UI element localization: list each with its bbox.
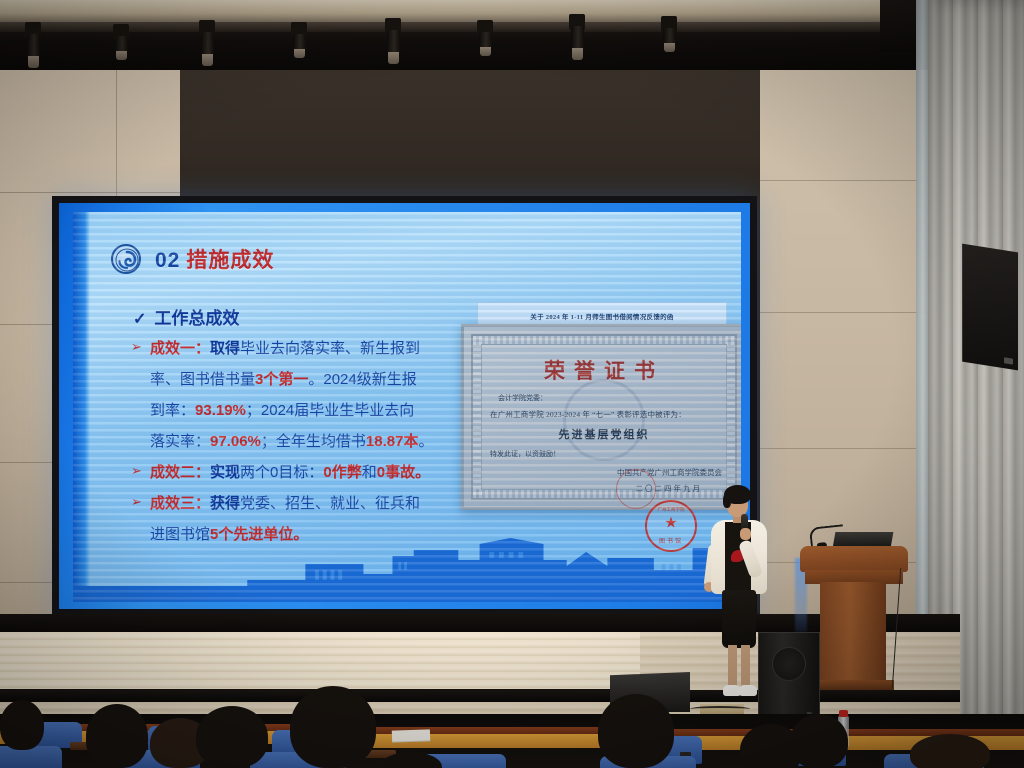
audience-seat [0,746,62,768]
slide-bullet-segment: 获得 [210,495,240,512]
certificate-stamp-overlay [616,469,656,509]
slide-bullet-segment: 93.19% [195,402,246,419]
slide-bullet-text: 成效二：实现两个0目标：0作弊和0事故。 [150,458,430,487]
slide-bullet-text: 落实率：97.06%；全年生均借书18.87本。 [150,427,433,456]
presenter-right-leg [741,645,750,689]
slide-bullet-segment: ；全年生均借书 [261,433,366,450]
slide-bullet: 到率：93.19%；2024届毕业生毕业去向 [131,396,503,425]
bullet-arrow-icon: ➢ [131,458,143,487]
slide-bullet-segment: 。2024级新生报 [308,371,416,388]
stage-spotlight-icon [474,20,496,66]
podium-body [820,582,886,684]
presenter-left-leg [728,645,737,689]
wall-mounted-speaker [962,244,1018,371]
audience-member-head [196,706,268,768]
audience-member-head [86,704,148,768]
stage-spotlight-icon [382,18,404,64]
slide-section-number: 02 [155,249,180,272]
slide-bullet-segment: 落实率： [150,433,210,450]
slide-bullet-segment: ；2024届毕业生毕业去向 [246,402,414,419]
podium-cable [892,568,901,688]
certificate-award-name: 先进基层党组织 [464,426,741,442]
stage-spotlight-icon [196,20,218,66]
slide-bullet-text: 成效一：取得毕业去向落实率、新生报到 [150,334,420,363]
slide-bullet-list: ➢成效一：取得毕业去向落实率、新生报到率、图书借书量3个第一。2024级新生报到… [131,334,503,551]
slide-bullet-segment: 。 [418,433,433,450]
stage-riser [0,632,640,692]
star-icon: ★ [664,516,677,531]
slide-bullet-label: 成效一： [150,340,210,357]
audience-member-head [598,694,674,768]
slide-bullet-label: 成效二： [150,464,210,481]
slide-bullet-segment: 0作弊 [323,464,361,481]
stage-spotlight-icon [288,22,310,68]
slide-bullet-segment: 党委、招生、就业、征兵和 [240,495,420,512]
slide-bullet: 落实率：97.06%；全年生均借书18.87本。 [131,427,503,456]
certificate-closing-line: 特发此证，以资鼓励！ [490,449,560,459]
spiral-brand-logo-icon [111,244,141,274]
slide-bullet-segment: 两个0目标： [240,464,323,481]
slide-title-row: 02措施成效 [111,244,274,274]
slide-bullet-label: 成效三： [150,495,210,512]
stage-spotlight-icon [22,22,44,68]
slide-bullet-segment: 97.06% [210,433,261,450]
audience-member-head [790,714,848,768]
slide-bullet-segment: 到率： [150,402,195,419]
memo-title: 关于 2024 年 1-11 月师生图书借阅情况反馈的函 [478,311,726,321]
stage-spotlight-icon [110,24,132,70]
certificate-body-line: 在广州工商学院 2023-2024 年 “七一” 表彰评选中被评为： [490,409,686,420]
slide-bullet: ➢成效一：取得毕业去向落实率、新生报到 [131,334,503,363]
presentation-slide: 02措施成效 ✓工作总成效 ➢成效一：取得毕业去向落实率、新生报到率、图书借书量… [73,212,741,602]
slide-title-text: 措施成效 [186,249,274,272]
bullet-indent [131,396,143,425]
slide-bullet-text: 成效三：获得党委、招生、就业、征兵和 [150,489,420,518]
bullet-indent [131,365,143,394]
slide-bullet: 率、图书借书量3个第一。2024级新生报 [131,365,503,394]
audience-member-head [0,700,44,750]
bullet-indent [131,427,143,456]
audience-member-head [290,686,376,768]
slide-subheading: ✓工作总成效 [133,304,239,329]
podium-base [812,680,894,690]
stage-spotlight-icon [658,16,680,62]
slide-bullet: ➢成效三：获得党委、招生、就业、征兵和 [131,489,503,518]
seal-top-text: 广州工商学院 [647,507,695,513]
slide-bullet-segment: 毕业去向落实率、新生报到 [240,340,420,357]
bullet-arrow-icon: ➢ [131,334,143,363]
slide-bullet-segment: 3个第一 [255,371,308,388]
slide-bullet-segment: 18.87本 [366,433,419,450]
slide-bullet-text: 率、图书借书量3个第一。2024级新生报 [150,365,417,394]
lighting-truss [0,0,880,24]
presenter [700,482,776,708]
led-presentation-screen: 02措施成效 ✓工作总成效 ➢成效一：取得毕业去向落实率、新生报到率、图书借书量… [52,196,757,616]
podium-top [800,546,908,572]
slide-bullet-text: 到率：93.19%；2024届毕业生毕业去向 [150,396,414,425]
honor-certificate-image: 荣誉证书 会计学院党委： 在广州工商学院 2023-2024 年 “七一” 表彰… [461,324,741,510]
bullet-arrow-icon: ➢ [131,489,143,518]
certificate-recipient: 会计学院党委： [498,393,547,403]
presenter-skirt [722,590,756,648]
campus-skyline-graphic [73,530,741,602]
audience-member-head [910,734,990,768]
slide-bullet-segment: 实现 [210,464,240,481]
slide-bullet-segment: 取得 [210,340,240,357]
slide-bullet-segment: 0事故。 [377,464,430,481]
slide-bullet-segment: 和 [362,464,377,481]
slide-bullet-segment: 率、图书借书量 [150,371,255,388]
page-title: 02措施成效 [155,244,274,274]
auditorium-scene: 02措施成效 ✓工作总成效 ➢成效一：取得毕业去向落实率、新生报到率、图书借书量… [0,0,1024,768]
papers-on-desk [392,729,430,741]
certificate-title: 荣誉证书 [464,355,741,385]
check-icon: ✓ [133,311,146,328]
truss-lip [0,22,880,32]
slide-bullet: ➢成效二：实现两个0目标：0作弊和0事故。 [131,458,503,487]
presenter-right-hand [740,528,751,540]
slide-subheading-text: 工作总成效 [154,309,239,328]
stage-spotlight-icon [566,14,588,60]
presenter-right-shoe [739,685,757,696]
